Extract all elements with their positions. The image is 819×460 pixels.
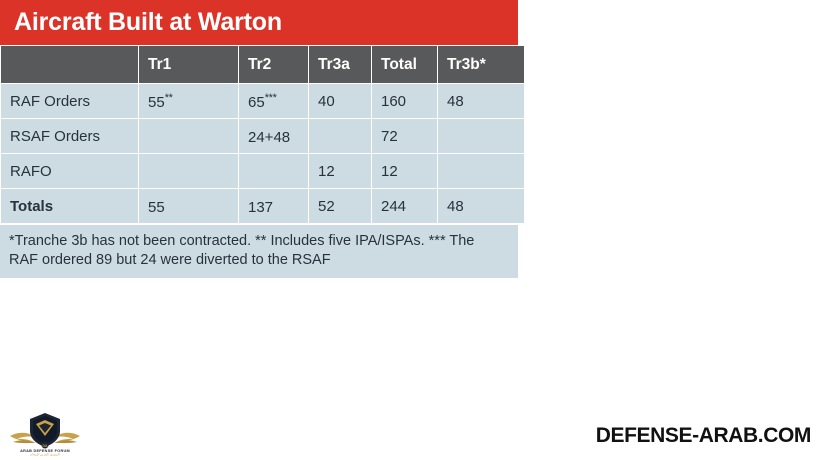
column-header-tr3b: Tr3b* — [438, 46, 524, 83]
cell-rafo-tr3b — [438, 154, 524, 188]
cell-rsaf-orders-tr2: 24+48 — [239, 119, 308, 153]
row-label-rsaf-orders: RSAF Orders — [1, 119, 138, 153]
table-row: RAF Orders 55** 65*** 40 160 48 — [1, 84, 524, 118]
cell-value: 24+48 — [248, 129, 290, 146]
column-header-tr1: Tr1 — [139, 46, 238, 83]
table-header-row: Tr1 Tr2 Tr3a Total Tr3b* — [1, 46, 524, 83]
cell-rsaf-orders-tr1 — [139, 119, 238, 153]
aircraft-built-table: Tr1 Tr2 Tr3a Total Tr3b* RAF Orders 55**… — [0, 45, 525, 224]
table-row: RAFO 12 12 — [1, 154, 524, 188]
table-footnote: *Tranche 3b has not been contracted. ** … — [0, 225, 518, 278]
cell-rsaf-orders-tr3b — [438, 119, 524, 153]
arab-defense-forum-logo: DA ARAB DEFENSE FORUM المنتدى العربي للد… — [8, 408, 82, 456]
cell-raf-orders-tr3a: 40 — [309, 84, 371, 118]
cell-footnote-marker: ** — [165, 92, 173, 104]
cell-value: 55 — [148, 94, 165, 111]
cell-totals-tr1: 55 — [139, 189, 238, 223]
cell-value: 65 — [248, 94, 265, 111]
table-row-totals: Totals 55 137 52 244 48 — [1, 189, 524, 223]
cell-raf-orders-tr1: 55** — [139, 84, 238, 118]
site-watermark: DEFENSE-ARAB.COM — [596, 424, 811, 448]
cell-totals-tr2: 137 — [239, 189, 308, 223]
row-label-totals: Totals — [1, 189, 138, 223]
cell-value: 55 — [148, 199, 165, 216]
column-header-tr3a: Tr3a — [309, 46, 371, 83]
cell-totals-total: 244 — [372, 189, 437, 223]
cell-rsaf-orders-total: 72 — [372, 119, 437, 153]
column-header-label — [1, 46, 138, 83]
page-title: Aircraft Built at Warton — [14, 10, 282, 35]
cell-rafo-tr1 — [139, 154, 238, 188]
column-header-tr2: Tr2 — [239, 46, 308, 83]
cell-totals-tr3b: 48 — [438, 189, 524, 223]
column-header-total: Total — [372, 46, 437, 83]
table-title-bar: Aircraft Built at Warton — [0, 0, 518, 45]
cell-rsaf-orders-tr3a — [309, 119, 371, 153]
cell-raf-orders-total: 160 — [372, 84, 437, 118]
row-label-rafo: RAFO — [1, 154, 138, 188]
table-row: RSAF Orders 24+48 72 — [1, 119, 524, 153]
logo-title-ar: المنتدى العربي للدفاع — [30, 453, 59, 457]
cell-rafo-tr2 — [239, 154, 308, 188]
row-label-raf-orders: RAF Orders — [1, 84, 138, 118]
cell-totals-tr3a: 52 — [309, 189, 371, 223]
logo-badge-text: DA — [42, 444, 48, 448]
cell-raf-orders-tr2: 65*** — [239, 84, 308, 118]
aircraft-built-table-card: Aircraft Built at Warton Tr1 Tr2 Tr3a To… — [0, 0, 518, 278]
cell-footnote-marker: *** — [265, 92, 277, 104]
cell-rafo-tr3a: 12 — [309, 154, 371, 188]
cell-value: 137 — [248, 199, 273, 216]
cell-raf-orders-tr3b: 48 — [438, 84, 524, 118]
cell-rafo-total: 12 — [372, 154, 437, 188]
